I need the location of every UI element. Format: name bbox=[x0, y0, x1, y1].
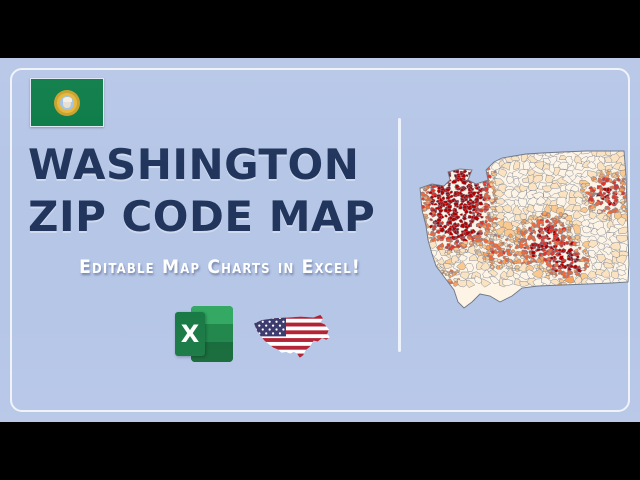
zip-area bbox=[473, 157, 476, 160]
zip-area bbox=[513, 146, 520, 156]
zip-area bbox=[420, 182, 425, 184]
zip-area bbox=[483, 170, 485, 173]
zip-area bbox=[448, 164, 453, 168]
zip-area bbox=[421, 227, 425, 230]
zip-area bbox=[468, 165, 471, 168]
zip-area bbox=[467, 152, 471, 155]
zip-area bbox=[418, 221, 422, 225]
zip-area bbox=[440, 155, 444, 159]
zip-area bbox=[461, 149, 465, 153]
zip-area bbox=[463, 160, 467, 163]
zip-area bbox=[432, 179, 437, 183]
slide-content-area: WASHINGTON ZIP CODE MAP Editable Map Cha… bbox=[0, 58, 640, 422]
usa-flag-map-icon bbox=[249, 307, 335, 361]
zip-area bbox=[454, 160, 458, 163]
zip-area bbox=[430, 171, 436, 175]
zip-area bbox=[416, 215, 424, 222]
choropleth-svg bbox=[402, 136, 638, 322]
zip-area bbox=[447, 168, 451, 170]
zip-area bbox=[583, 194, 586, 197]
zip-area bbox=[438, 280, 442, 283]
zip-area bbox=[433, 172, 438, 176]
subtitle-text: Editable Map Charts in Excel! bbox=[60, 256, 380, 278]
zip-area bbox=[414, 196, 419, 200]
zip-area bbox=[423, 157, 433, 165]
zip-area bbox=[418, 249, 427, 258]
zip-area bbox=[411, 268, 422, 277]
zip-area bbox=[484, 154, 492, 162]
zip-area bbox=[414, 222, 417, 225]
zip-area bbox=[416, 280, 423, 287]
zip-area bbox=[477, 147, 483, 153]
zip-area bbox=[478, 170, 484, 175]
zip-area bbox=[596, 170, 600, 173]
zip-area bbox=[473, 165, 476, 168]
zip-area bbox=[441, 159, 447, 164]
zip-area bbox=[419, 185, 422, 187]
zip-area bbox=[482, 165, 486, 170]
zip-area bbox=[556, 234, 559, 237]
zip-area bbox=[431, 177, 436, 180]
zip-area bbox=[475, 173, 479, 177]
zip-area bbox=[437, 158, 443, 162]
zip-area bbox=[444, 156, 448, 160]
zip-area bbox=[479, 176, 482, 179]
zip-area bbox=[567, 264, 570, 266]
zip-area bbox=[414, 222, 419, 227]
zip-area bbox=[428, 265, 436, 273]
zip-area bbox=[423, 226, 426, 229]
zip-area bbox=[414, 264, 423, 272]
zip-area bbox=[489, 150, 499, 159]
zip-area bbox=[440, 173, 446, 177]
zip-area bbox=[412, 225, 423, 234]
zip-area bbox=[443, 151, 446, 154]
zip-area bbox=[437, 178, 440, 181]
zip-area bbox=[434, 279, 438, 283]
zip-area bbox=[413, 181, 417, 185]
zip-area bbox=[414, 182, 418, 187]
zip-area bbox=[486, 191, 488, 194]
zip-area bbox=[462, 161, 465, 163]
zip-area bbox=[452, 156, 456, 160]
zip-area bbox=[481, 162, 485, 167]
zip-area bbox=[533, 213, 537, 216]
zip-area bbox=[448, 150, 453, 155]
zip-area bbox=[431, 168, 435, 172]
page-title-line-1: WASHINGTON bbox=[28, 140, 359, 189]
zip-area bbox=[461, 157, 465, 160]
zip-area bbox=[464, 152, 470, 157]
zip-area bbox=[425, 174, 429, 177]
zip-area bbox=[619, 243, 627, 251]
zip-area bbox=[416, 211, 420, 215]
zip-area bbox=[471, 166, 477, 170]
zip-area bbox=[426, 170, 431, 174]
zip-area bbox=[413, 237, 422, 245]
zip-area bbox=[460, 162, 464, 166]
excel-icon-letter: X bbox=[175, 312, 205, 356]
zip-area bbox=[431, 167, 435, 171]
zip-area bbox=[470, 160, 475, 164]
zip-area bbox=[436, 162, 440, 166]
zip-area bbox=[432, 174, 437, 178]
zip-area bbox=[412, 168, 421, 176]
zip-area bbox=[456, 228, 459, 231]
zip-area bbox=[455, 157, 459, 162]
zip-area bbox=[469, 158, 475, 163]
zip-area bbox=[519, 244, 524, 249]
zip-area bbox=[575, 235, 580, 239]
washington-state-flag-icon bbox=[30, 78, 104, 127]
zip-area bbox=[445, 157, 450, 160]
zip-area bbox=[423, 233, 426, 236]
zip-area bbox=[490, 240, 495, 244]
zip-area bbox=[433, 274, 439, 278]
zip-area bbox=[480, 213, 482, 215]
zip-area bbox=[462, 164, 466, 168]
zip-area bbox=[413, 179, 418, 184]
zip-area bbox=[480, 158, 483, 163]
zip-area bbox=[478, 172, 483, 176]
zip-area bbox=[438, 176, 442, 180]
zip-area bbox=[471, 150, 473, 154]
zip-area bbox=[430, 158, 437, 166]
zip-area bbox=[418, 219, 422, 223]
zip-area bbox=[471, 174, 476, 178]
zip-area bbox=[438, 181, 442, 185]
left-text-column: WASHINGTON ZIP CODE MAP Editable Map Cha… bbox=[0, 58, 398, 422]
zip-area bbox=[436, 275, 442, 280]
zip-area bbox=[434, 171, 437, 174]
zip-area bbox=[446, 150, 451, 154]
zip-area bbox=[478, 157, 483, 161]
zip-area bbox=[476, 158, 481, 163]
zip-area bbox=[416, 258, 424, 266]
zip-area bbox=[568, 271, 572, 275]
zip-area bbox=[416, 178, 422, 182]
zip-area bbox=[490, 212, 493, 217]
zip-area bbox=[430, 275, 433, 278]
zip-area bbox=[440, 280, 445, 284]
zip-area bbox=[472, 212, 475, 215]
zip-area bbox=[417, 224, 422, 229]
zip-area bbox=[424, 176, 427, 178]
zip-area bbox=[461, 150, 466, 154]
zip-area bbox=[418, 183, 422, 186]
zip-area bbox=[431, 272, 435, 275]
zip-area bbox=[413, 180, 417, 183]
zip-area bbox=[438, 171, 442, 175]
zip-area bbox=[435, 181, 439, 184]
zip-area bbox=[483, 147, 490, 155]
zip-area bbox=[422, 253, 432, 262]
zip-area bbox=[476, 163, 480, 167]
washington-zip-choropleth-map bbox=[402, 136, 638, 322]
zip-area bbox=[444, 154, 448, 159]
zip-area bbox=[421, 239, 427, 243]
zip-area bbox=[416, 185, 420, 190]
zip-area bbox=[439, 177, 444, 180]
zip-area bbox=[457, 152, 461, 157]
icon-row: X bbox=[175, 306, 335, 362]
zip-area bbox=[415, 204, 420, 207]
zip-area bbox=[426, 171, 429, 174]
screenshot-stage: WASHINGTON ZIP CODE MAP Editable Map Cha… bbox=[0, 0, 640, 480]
zip-area bbox=[444, 271, 447, 274]
zip-area bbox=[455, 149, 460, 152]
zip-area bbox=[423, 164, 431, 169]
zip-area bbox=[415, 201, 419, 205]
zip-area bbox=[437, 168, 441, 172]
zip-area bbox=[470, 176, 474, 179]
zip-area bbox=[423, 239, 426, 242]
zip-area bbox=[455, 163, 458, 168]
zip-area bbox=[429, 163, 434, 167]
zip-area bbox=[413, 150, 423, 156]
zip-area bbox=[465, 148, 469, 152]
zip-area bbox=[445, 152, 448, 155]
zip-area bbox=[429, 162, 433, 166]
zip-area bbox=[421, 269, 431, 278]
zip-area bbox=[446, 160, 453, 164]
zip-area bbox=[416, 194, 419, 197]
zip-area bbox=[438, 276, 442, 279]
zip-area bbox=[430, 281, 436, 286]
zip-area bbox=[414, 205, 420, 209]
zip-area bbox=[470, 149, 475, 153]
zip-area bbox=[414, 209, 419, 214]
zip-area bbox=[499, 240, 502, 242]
zip-area bbox=[445, 157, 451, 162]
zip-area bbox=[454, 164, 459, 168]
zip-area bbox=[476, 170, 482, 174]
zip-area bbox=[422, 149, 433, 159]
zip-area bbox=[455, 165, 460, 169]
zip-area bbox=[439, 172, 443, 175]
zip-area bbox=[461, 162, 466, 165]
zip-area bbox=[431, 271, 438, 276]
zip-area bbox=[429, 149, 440, 156]
zip-area bbox=[422, 171, 428, 175]
zip-area bbox=[465, 155, 469, 159]
zip-area bbox=[421, 233, 426, 237]
zip-area bbox=[446, 162, 450, 166]
zip-area bbox=[495, 149, 505, 157]
zip-area bbox=[476, 162, 481, 167]
zip-area bbox=[467, 155, 472, 159]
zip-area bbox=[470, 166, 474, 169]
zip-area bbox=[455, 240, 458, 243]
zip-area bbox=[465, 150, 469, 155]
zip-area bbox=[471, 172, 475, 175]
zip-area bbox=[414, 154, 422, 162]
zip-area bbox=[423, 238, 427, 243]
zip-area bbox=[483, 165, 487, 169]
zip-area bbox=[444, 173, 448, 177]
zip-area bbox=[445, 165, 452, 169]
page-title-line-2: ZIP CODE MAP bbox=[28, 192, 375, 241]
zip-area bbox=[440, 160, 444, 163]
zip-area bbox=[414, 161, 421, 170]
zip-area bbox=[454, 149, 458, 152]
zip-area bbox=[622, 178, 625, 181]
zip-area bbox=[438, 162, 444, 167]
zip-area bbox=[467, 154, 471, 156]
zip-area bbox=[436, 173, 441, 178]
zip-area bbox=[488, 153, 496, 162]
zip-area bbox=[483, 225, 486, 228]
zip-area bbox=[507, 249, 511, 252]
zip-area bbox=[434, 165, 438, 168]
zip-area bbox=[479, 159, 483, 163]
excel-icon: X bbox=[175, 306, 233, 362]
zip-area bbox=[548, 241, 551, 244]
zip-area bbox=[432, 164, 436, 168]
zip-area bbox=[429, 274, 433, 279]
zip-area bbox=[451, 165, 457, 169]
zip-area bbox=[461, 155, 466, 161]
zip-area bbox=[465, 151, 471, 156]
zip-area bbox=[466, 165, 471, 167]
zip-area bbox=[480, 162, 483, 166]
zip-area bbox=[482, 165, 487, 169]
zip-area bbox=[425, 179, 430, 184]
zip-area bbox=[477, 158, 483, 163]
zip-area bbox=[439, 161, 445, 166]
zip-area bbox=[476, 175, 480, 179]
zip-area bbox=[413, 189, 416, 192]
zip-area bbox=[413, 239, 423, 249]
zip-area bbox=[452, 147, 456, 151]
zip-area bbox=[412, 249, 420, 255]
zip-area bbox=[605, 170, 608, 173]
zip-area bbox=[475, 167, 480, 171]
zip-area bbox=[455, 156, 460, 160]
zip-area bbox=[448, 167, 451, 169]
zip-area bbox=[437, 149, 446, 157]
zip-area bbox=[438, 283, 441, 286]
zip-area bbox=[437, 155, 442, 159]
zip-area bbox=[414, 198, 419, 202]
state-seal-icon bbox=[54, 90, 80, 116]
zip-area bbox=[440, 279, 444, 284]
zip-area bbox=[542, 242, 546, 246]
zip-area bbox=[422, 182, 426, 185]
zip-area bbox=[438, 175, 442, 177]
zip-area bbox=[419, 279, 428, 287]
zip-area bbox=[454, 160, 460, 164]
zip-area bbox=[531, 251, 536, 255]
zip-area bbox=[443, 282, 448, 286]
zip-area bbox=[453, 151, 458, 154]
zip-area bbox=[538, 234, 542, 237]
zip-area bbox=[492, 192, 494, 194]
zip-area bbox=[424, 176, 429, 180]
zip-area bbox=[427, 178, 430, 180]
zip-area bbox=[432, 280, 436, 283]
zip-area bbox=[434, 279, 439, 282]
zip-area bbox=[429, 180, 432, 183]
zip-area bbox=[421, 225, 425, 230]
zip-area bbox=[446, 149, 451, 153]
zip-area bbox=[580, 189, 585, 192]
vertical-divider bbox=[398, 118, 401, 352]
zip-area bbox=[423, 262, 432, 271]
zip-area bbox=[413, 204, 416, 207]
zip-area bbox=[440, 163, 444, 167]
zip-area bbox=[470, 156, 475, 161]
zip-area bbox=[434, 279, 438, 282]
